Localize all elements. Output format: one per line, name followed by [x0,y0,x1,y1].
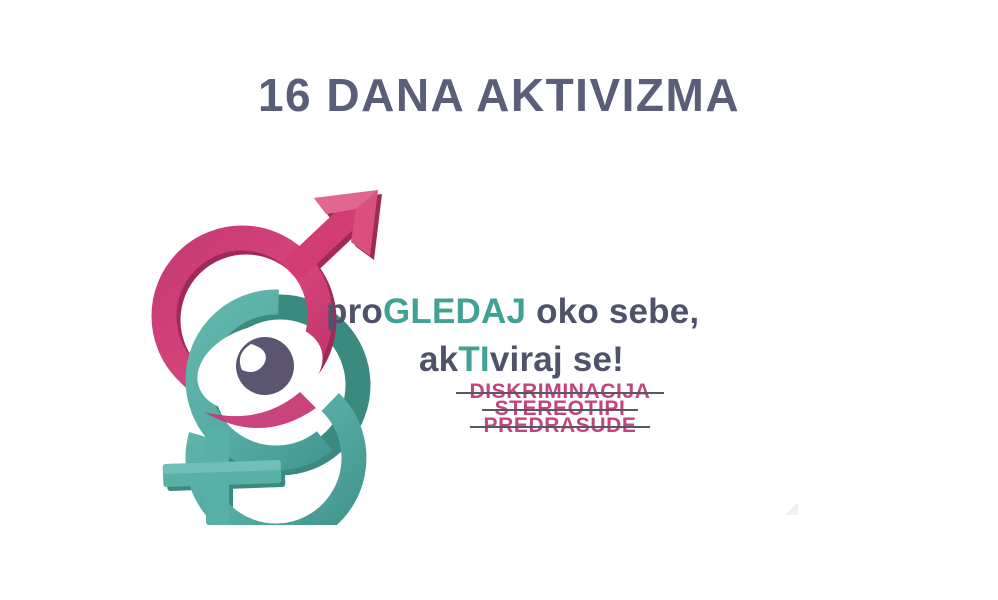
tagline-line-1: proGLEDAJ oko sebe, [326,288,796,336]
struck-row: PREDRASUDE [380,426,740,443]
tagline-l1-accent: GLEDAJ [383,292,526,331]
tagline-l1-prefix: pro [326,292,383,331]
tagline-l1-suffix: oko sebe, [526,292,699,331]
tagline-l2-prefix: ak [419,340,458,379]
resize-handle-icon[interactable] [784,501,799,516]
tagline: proGLEDAJ oko sebe, akTIviraj se! [326,288,796,384]
page-title: 16 DANA AKTIVIZMA [0,68,998,122]
tagline-l2-suffix: viraj se! [490,340,624,379]
tagline-line-2: akTIviraj se! [326,336,796,384]
tagline-l2-accent: TI [458,340,490,379]
slide-canvas: 16 DANA AKTIVIZMA [0,0,998,600]
struck-words-list: DISKRIMINACIJA STEREOTIPI PREDRASUDE [380,392,740,443]
